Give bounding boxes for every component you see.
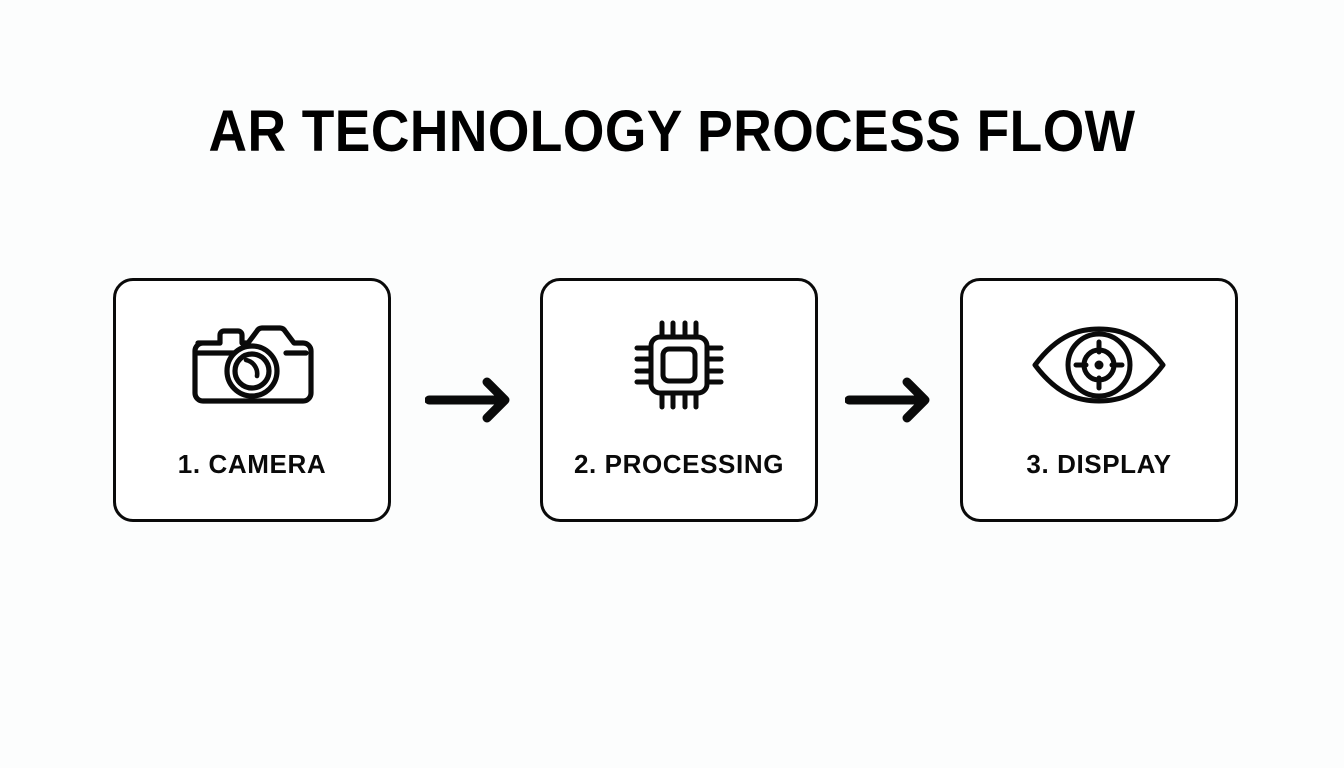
diagram-canvas: AR TECHNOLOGY PROCESS FLOW 1. CAMERA bbox=[0, 0, 1344, 768]
step-label-processing: 2. PROCESSING bbox=[543, 449, 815, 480]
page-title: AR TECHNOLOGY PROCESS FLOW bbox=[54, 103, 1290, 161]
process-flow-row: 1. CAMERA bbox=[0, 278, 1344, 526]
step-box-processing[interactable]: 2. PROCESSING bbox=[540, 278, 818, 522]
eye-target-icon bbox=[963, 317, 1235, 413]
step-label-camera: 1. CAMERA bbox=[116, 449, 388, 480]
step-box-camera[interactable]: 1. CAMERA bbox=[113, 278, 391, 522]
arrow-right-icon bbox=[425, 376, 517, 424]
microchip-icon bbox=[543, 317, 815, 413]
step-box-display[interactable]: 3. DISPLAY bbox=[960, 278, 1238, 522]
arrow-right-icon bbox=[845, 376, 937, 424]
camera-icon bbox=[116, 317, 388, 413]
step-label-display: 3. DISPLAY bbox=[963, 449, 1235, 480]
